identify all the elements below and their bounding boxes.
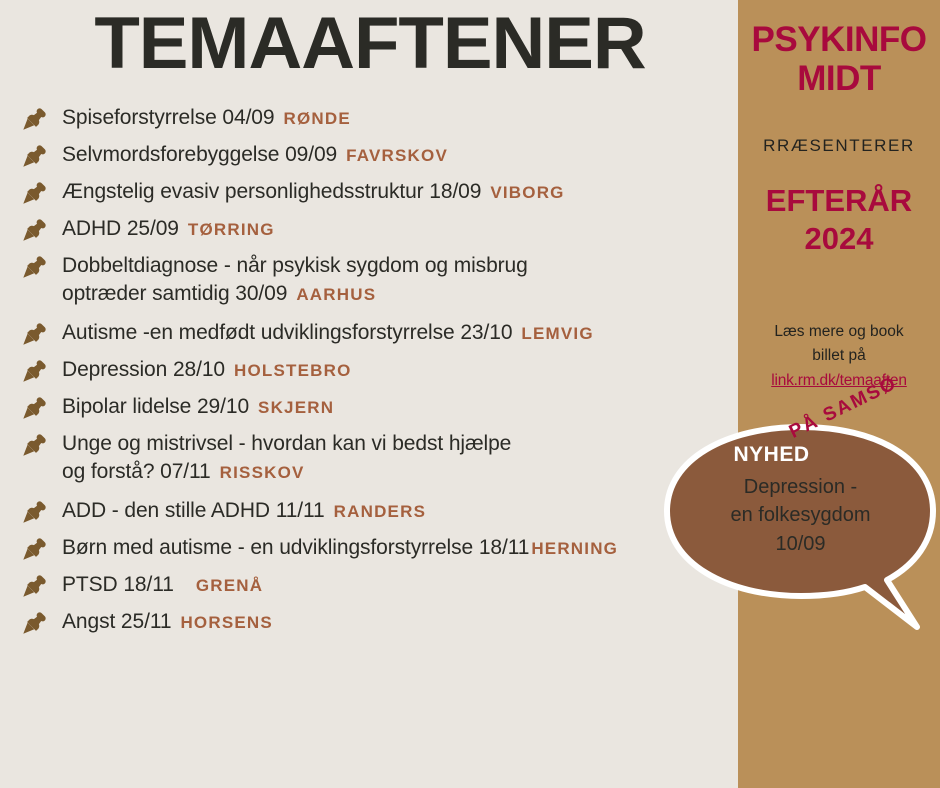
event-title: Unge og mistrivsel - hvordan kan vi beds… <box>62 432 511 455</box>
brand-name-line2: MIDT <box>738 59 940 98</box>
season-year: 2024 <box>738 220 940 258</box>
event-text: Depression 28/10HOLSTEBRO <box>62 356 742 384</box>
bubble-line-1: Depression - <box>683 473 918 501</box>
pushpin-icon <box>22 215 62 243</box>
poster-canvas: TEMAAFTENER Spiseforstyrrelse 04/09RØNDE… <box>0 0 940 788</box>
booking-line2: billet på <box>812 347 865 364</box>
event-text: Angst 25/11HORSENS <box>62 608 742 636</box>
event-title: Selvmordsforebyggelse 09/09 <box>62 143 337 166</box>
sidebar-panel: PSYKINFO MIDT RRÆSENTERER EFTERÅR 2024 L… <box>738 0 940 788</box>
season-block: EFTERÅR 2024 <box>738 182 940 258</box>
event-text: Spiseforstyrrelse 04/09RØNDE <box>62 104 742 132</box>
event-text: Dobbeltdiagnose - når psykisk sygdom og … <box>62 252 742 308</box>
event-title: Autisme -en medfødt udviklingsforstyrrel… <box>62 321 512 344</box>
pushpin-icon <box>22 534 62 562</box>
bubble-text-block: NYHED Depression - en folkesygdom 10/09 <box>683 443 918 558</box>
event-title: ADHD 25/09 <box>62 217 179 240</box>
list-item[interactable]: Selvmordsforebyggelse 09/09FAVRSKOV <box>22 141 742 169</box>
brand-block: PSYKINFO MIDT <box>738 20 940 98</box>
event-text: PTSD 18/11GRENÅ <box>62 571 742 599</box>
event-list: Spiseforstyrrelse 04/09RØNDE Selvmordsfo… <box>22 104 742 645</box>
list-item[interactable]: Ængstelig evasiv personlighedsstruktur 1… <box>22 178 742 206</box>
bubble-line-3: 10/09 <box>683 530 918 558</box>
pushpin-icon <box>22 104 62 132</box>
pushpin-icon <box>22 319 62 347</box>
event-title: ADD - den stille ADHD 11/11 <box>62 499 325 522</box>
event-text: Selvmordsforebyggelse 09/09FAVRSKOV <box>62 141 742 169</box>
brand-name-line1: PSYKINFO <box>738 20 940 59</box>
list-item[interactable]: Bipolar lidelse 29/10SKJERN <box>22 393 742 421</box>
pushpin-icon <box>22 430 62 458</box>
pushpin-icon <box>22 252 62 280</box>
list-item[interactable]: ADD - den stille ADHD 11/11RANDERS <box>22 497 742 525</box>
event-text: ADD - den stille ADHD 11/11RANDERS <box>62 497 742 525</box>
event-city: FAVRSKOV <box>346 146 448 165</box>
event-title: Ængstelig evasiv personlighedsstruktur 1… <box>62 180 481 203</box>
list-item[interactable]: PTSD 18/11GRENÅ <box>22 571 742 599</box>
pushpin-icon <box>22 497 62 525</box>
pushpin-icon <box>22 393 62 421</box>
page-title: TEMAAFTENER <box>0 6 747 82</box>
list-item[interactable]: Unge og mistrivsel - hvordan kan vi beds… <box>22 430 742 486</box>
bubble-line-2: en folkesygdom <box>683 501 918 529</box>
booking-url-link[interactable]: link.rm.dk/temaaften <box>742 369 936 393</box>
event-city: HORSENS <box>180 613 272 632</box>
news-badge: NYHED <box>683 443 918 467</box>
pushpin-icon <box>22 608 62 636</box>
event-title: Dobbeltdiagnose - når psykisk sygdom og … <box>62 254 528 277</box>
event-title: Bipolar lidelse 29/10 <box>62 395 249 418</box>
event-city: RANDERS <box>334 502 426 521</box>
left-content-column: TEMAAFTENER Spiseforstyrrelse 04/09RØNDE… <box>0 0 740 788</box>
season-label: EFTERÅR <box>738 182 940 220</box>
event-text: Unge og mistrivsel - hvordan kan vi beds… <box>62 430 742 486</box>
pushpin-icon <box>22 141 62 169</box>
event-city: HOLSTEBRO <box>234 361 352 380</box>
pushpin-icon <box>22 571 62 599</box>
list-item[interactable]: Angst 25/11HORSENS <box>22 608 742 636</box>
list-item[interactable]: Autisme -en medfødt udviklingsforstyrrel… <box>22 319 742 347</box>
event-city: RISSKOV <box>220 463 305 482</box>
event-city: SKJERN <box>258 398 334 417</box>
list-item[interactable]: Depression 28/10HOLSTEBRO <box>22 356 742 384</box>
event-city: HERNING <box>531 539 618 558</box>
event-city: TØRRING <box>188 220 275 239</box>
booking-info: Læs mere og book billet på link.rm.dk/te… <box>742 320 936 393</box>
event-text: Bipolar lidelse 29/10SKJERN <box>62 393 742 421</box>
event-title: Angst 25/11 <box>62 610 171 633</box>
event-title: Børn med autisme - en udviklingsforstyrr… <box>62 536 529 559</box>
booking-line1: Læs mere og book <box>774 323 903 340</box>
event-title-line2: og forstå? 07/11 <box>62 460 211 483</box>
event-city: AARHUS <box>296 285 376 304</box>
list-item[interactable]: Spiseforstyrrelse 04/09RØNDE <box>22 104 742 132</box>
pushpin-icon <box>22 178 62 206</box>
event-title: Spiseforstyrrelse 04/09 <box>62 106 274 129</box>
event-title: Depression 28/10 <box>62 358 225 381</box>
list-item[interactable]: Børn med autisme - en udviklingsforstyrr… <box>22 534 742 562</box>
list-item[interactable]: Dobbeltdiagnose - når psykisk sygdom og … <box>22 252 742 308</box>
event-title-line2: optræder samtidig 30/09 <box>62 282 287 305</box>
event-city: VIBORG <box>490 183 564 202</box>
event-text: ADHD 25/09TØRRING <box>62 215 742 243</box>
event-text: Autisme -en medfødt udviklingsforstyrrel… <box>62 319 742 347</box>
presents-label: RRÆSENTERER <box>738 136 940 156</box>
event-text: Børn med autisme - en udviklingsforstyrr… <box>62 534 742 562</box>
event-text: Ængstelig evasiv personlighedsstruktur 1… <box>62 178 742 206</box>
event-city: GRENÅ <box>196 576 263 595</box>
event-city: LEMVIG <box>521 324 593 343</box>
event-city: RØNDE <box>283 109 350 128</box>
list-item[interactable]: ADHD 25/09TØRRING <box>22 215 742 243</box>
event-title: PTSD 18/11 <box>62 573 174 596</box>
pushpin-icon <box>22 356 62 384</box>
